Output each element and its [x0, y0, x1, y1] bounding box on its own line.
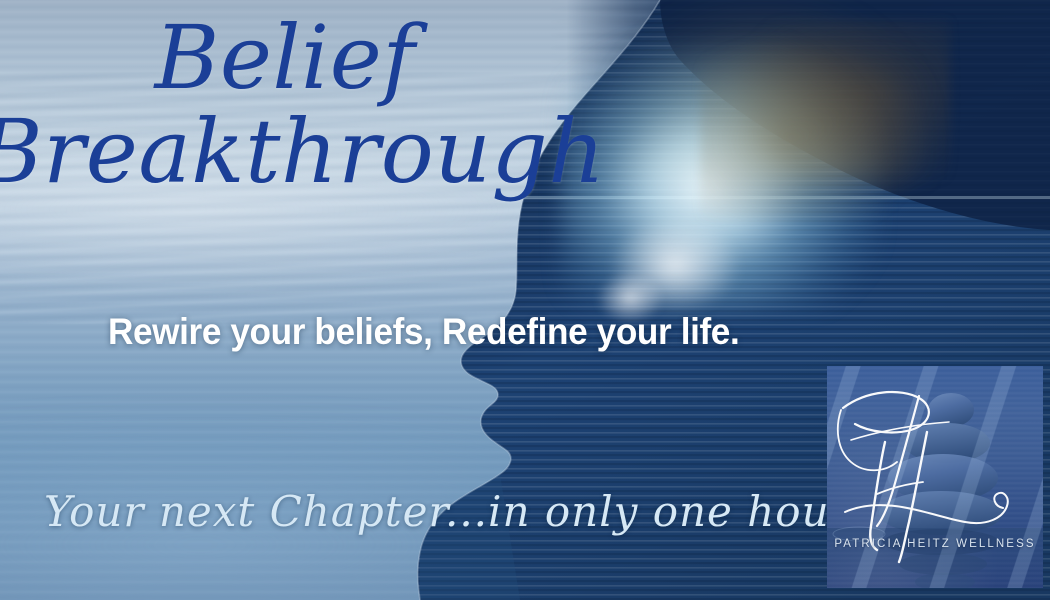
poster-canvas: Belief Breakthrough Rewire your beliefs,… — [0, 0, 1050, 600]
logo-caption: PATRICIA HEITZ WELLNESS — [827, 538, 1043, 550]
brand-logo[interactable]: PATRICIA HEITZ WELLNESS — [827, 366, 1043, 588]
tagline-text: Your next Chapter...in only one hour — [44, 487, 851, 536]
subtitle-text: Rewire your beliefs, Redefine your life. — [108, 311, 739, 353]
ph-monogram-icon — [827, 366, 1043, 588]
